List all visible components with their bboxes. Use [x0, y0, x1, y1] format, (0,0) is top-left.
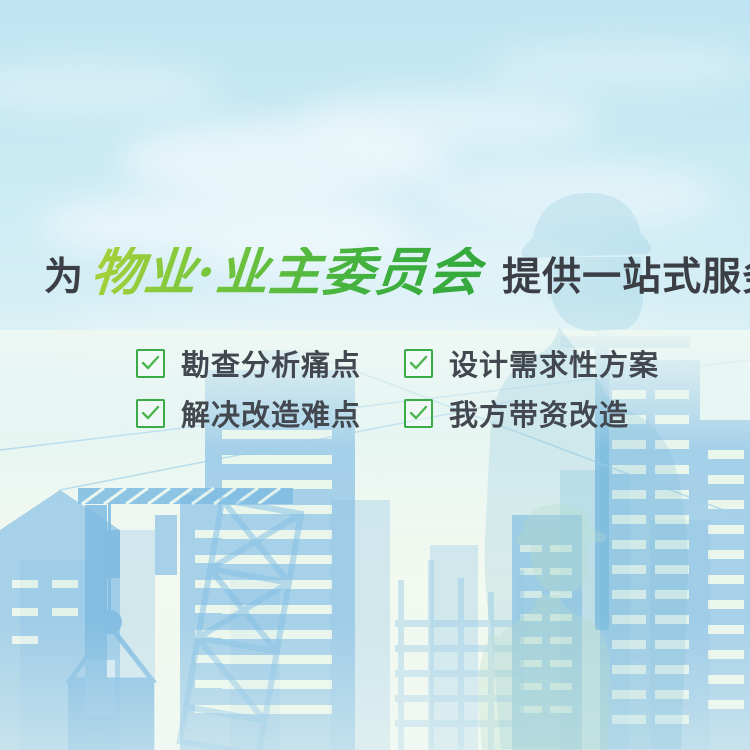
- feature-label: 设计需求性方案: [449, 342, 659, 384]
- cloud-shape: [480, 40, 750, 90]
- cloud-shape: [0, 60, 220, 115]
- crane-counterweight: [100, 530, 120, 578]
- bottom-fade-overlay: [0, 620, 750, 750]
- crane-jib: [78, 488, 293, 504]
- promotional-banner: 为 物业·业主委员会 提供一站式服务 勘查分析痛点 设计需求性方案 解决改造难点: [0, 0, 750, 750]
- checkbox-checked-icon[interactable]: [404, 399, 433, 428]
- scaffold-structure: [180, 500, 301, 750]
- headline-suffix: 提供一站式服务: [502, 258, 750, 297]
- feature-label: 解决改造难点: [181, 392, 361, 434]
- feature-label: 勘查分析痛点: [181, 342, 361, 384]
- feature-item[interactable]: 勘查分析痛点: [136, 342, 404, 384]
- feature-item[interactable]: 解决改造难点: [136, 392, 404, 434]
- feature-label: 我方带资改造: [449, 392, 629, 434]
- cloud-shape: [420, 160, 720, 230]
- feature-item[interactable]: 我方带资改造: [404, 392, 672, 434]
- crane-hook: [98, 610, 122, 634]
- steel-frame-building: [395, 560, 525, 750]
- headline-highlight: 物业·业主委员会: [89, 247, 488, 299]
- feature-item[interactable]: 设计需求性方案: [404, 342, 672, 384]
- headline-prefix: 为: [44, 258, 84, 297]
- crane-load: [68, 680, 154, 750]
- cloud-shape: [300, 90, 600, 150]
- cloud-shape: [120, 120, 450, 200]
- crane-mast: [85, 505, 107, 750]
- worker-silhouette-small: [470, 495, 660, 750]
- checkbox-checked-icon[interactable]: [136, 349, 165, 378]
- headline: 为 物业·业主委员会 提供一站式服务: [44, 247, 750, 299]
- checkbox-checked-icon[interactable]: [404, 349, 433, 378]
- checkbox-checked-icon[interactable]: [136, 399, 165, 428]
- feature-list: 勘查分析痛点 设计需求性方案 解决改造难点 我方带资改造: [136, 338, 672, 438]
